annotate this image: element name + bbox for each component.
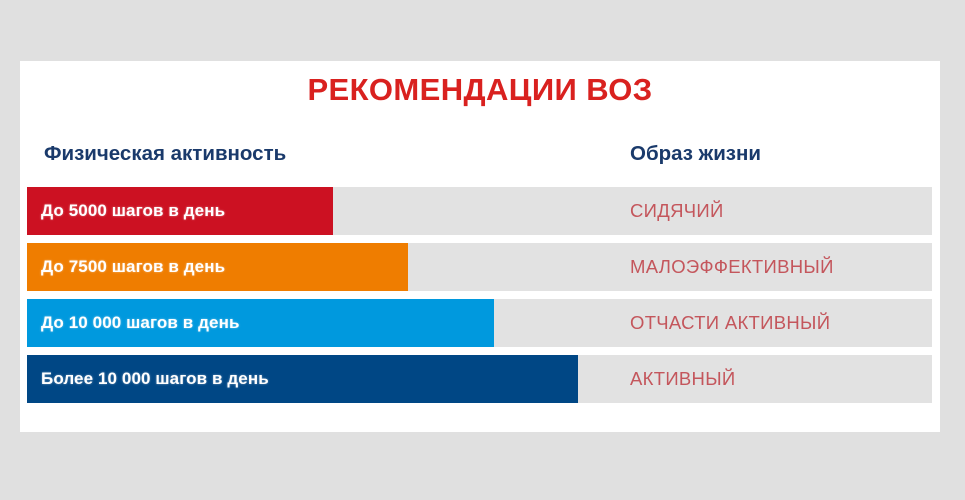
page-title: РЕКОМЕНДАЦИИ ВОЗ [20, 72, 940, 108]
recommendations-rows: До 5000 шагов в день СИДЯЧИЙ До 7500 шаг… [20, 187, 940, 403]
activity-bar-label: До 10 000 шагов в день [41, 313, 240, 333]
activity-bar: До 7500 шагов в день [27, 243, 408, 291]
table-row: До 5000 шагов в день СИДЯЧИЙ [20, 187, 940, 235]
table-row: Более 10 000 шагов в день АКТИВНЫЙ [20, 355, 940, 403]
table-row: До 7500 шагов в день МАЛОЭФФЕКТИВНЫЙ [20, 243, 940, 291]
activity-bar-label: Более 10 000 шагов в день [41, 369, 269, 389]
recommendations-card: РЕКОМЕНДАЦИИ ВОЗ Физическая активность О… [20, 61, 940, 432]
activity-bar-label: До 5000 шагов в день [41, 201, 225, 221]
activity-bar: Более 10 000 шагов в день [27, 355, 578, 403]
lifestyle-label: СИДЯЧИЙ [630, 187, 724, 235]
lifestyle-label: АКТИВНЫЙ [630, 355, 736, 403]
activity-bar: До 5000 шагов в день [27, 187, 333, 235]
lifestyle-label: ОТЧАСТИ АКТИВНЫЙ [630, 299, 830, 347]
column-header-activity: Физическая активность [44, 141, 286, 167]
activity-bar-label: До 7500 шагов в день [41, 257, 225, 277]
infographic-page: РЕКОМЕНДАЦИИ ВОЗ Физическая активность О… [0, 0, 965, 500]
activity-bar: До 10 000 шагов в день [27, 299, 494, 347]
column-header-lifestyle: Образ жизни [630, 141, 761, 167]
lifestyle-label: МАЛОЭФФЕКТИВНЫЙ [630, 243, 834, 291]
table-row: До 10 000 шагов в день ОТЧАСТИ АКТИВНЫЙ [20, 299, 940, 347]
